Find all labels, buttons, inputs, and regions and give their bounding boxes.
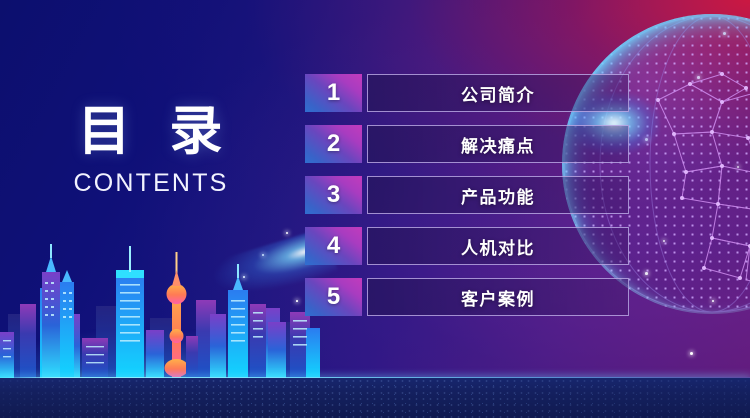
list-item[interactable]: 3 产品功能 (305, 176, 629, 214)
item-label[interactable]: 解决痛点 (367, 125, 629, 163)
item-number-badge: 5 (305, 278, 362, 316)
title-block: 目 录 CONTENTS (0, 104, 300, 198)
ground-speckle (0, 378, 750, 418)
item-label[interactable]: 公司简介 (367, 74, 629, 112)
list-item[interactable]: 5 客户案例 (305, 278, 629, 316)
contents-list: 1 公司简介 2 解决痛点 3 产品功能 4 人机对比 5 客户案例 (305, 74, 629, 316)
list-item[interactable]: 2 解决痛点 (305, 125, 629, 163)
item-number-badge: 1 (305, 74, 362, 112)
contents-slide: 目 录 CONTENTS 1 公司简介 2 解决痛点 3 产品功能 4 人机对比… (0, 0, 750, 418)
item-number-badge: 4 (305, 227, 362, 265)
list-item[interactable]: 1 公司简介 (305, 74, 629, 112)
page-title: 目 录 (0, 104, 300, 160)
page-subtitle: CONTENTS (0, 169, 300, 198)
item-number-badge: 2 (305, 125, 362, 163)
foreground-ground (0, 378, 750, 418)
list-item[interactable]: 4 人机对比 (305, 227, 629, 265)
item-number-badge: 3 (305, 176, 362, 214)
city-skyline (0, 218, 320, 378)
item-label[interactable]: 产品功能 (367, 176, 629, 214)
item-label[interactable]: 人机对比 (367, 227, 629, 265)
item-label[interactable]: 客户案例 (367, 278, 629, 316)
